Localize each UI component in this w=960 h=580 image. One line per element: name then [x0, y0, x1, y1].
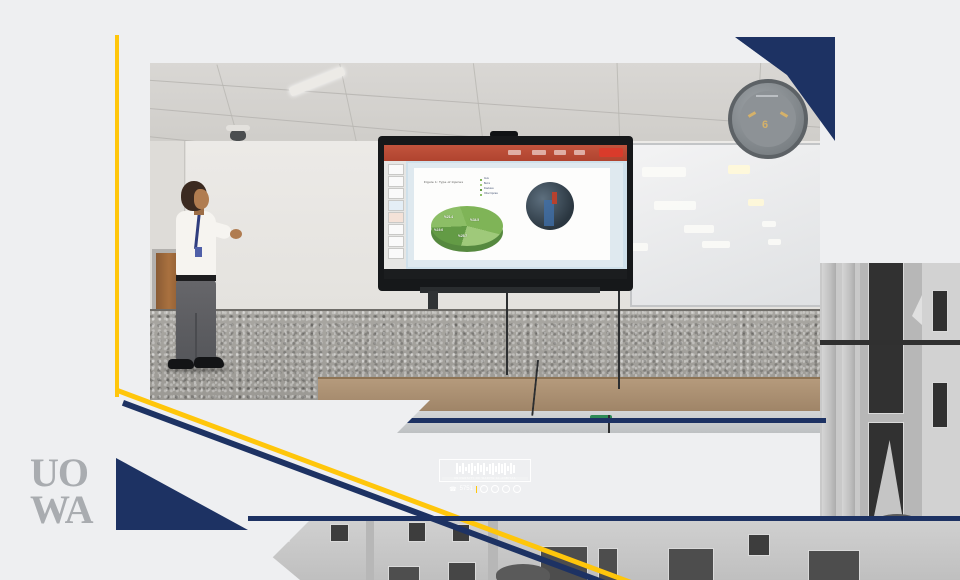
youtube-icon[interactable]: [513, 485, 521, 493]
pie-slice-label: %19.6: [434, 228, 443, 232]
slide-thumbnail[interactable]: [388, 188, 404, 199]
current-slide: Figure 1: Type of Injuries Cuts Burns Fr…: [414, 168, 610, 260]
slide-thumbnail[interactable]: [388, 224, 404, 235]
building-window: [408, 522, 426, 542]
phone-number: 5751: [460, 486, 473, 492]
presenter-shoe: [194, 357, 224, 368]
clock-numeral: 6: [762, 119, 768, 131]
display-cable-conduit: [618, 279, 620, 389]
navy-divider-lower: [248, 516, 960, 521]
facebook-icon[interactable]: [480, 485, 488, 493]
yellow-vertical-accent: [115, 35, 119, 397]
slide-thumbnail[interactable]: [388, 212, 404, 223]
uowa-logo-line2: WA: [30, 492, 102, 529]
building-shrub: [496, 564, 550, 580]
legend-swatch: [480, 179, 482, 181]
whiteboard: [630, 143, 820, 307]
presenter-shoe: [168, 359, 194, 369]
right-margin-panel: [820, 37, 960, 263]
slide-caption: Figure 1: Type of Injuries: [424, 180, 463, 184]
display-mount-foot: [428, 291, 438, 309]
whiteboard-glare: [684, 225, 714, 233]
slide-canvas: Figure 1: Type of Injuries Cuts Burns Fr…: [408, 163, 623, 267]
whiteboard-glare: [768, 239, 781, 245]
whiteboard-glare: [702, 241, 730, 248]
legend-swatch: [480, 189, 482, 191]
legend-label: Burns: [484, 183, 490, 185]
building-window: [668, 548, 714, 580]
phone-icon: ☎: [449, 486, 456, 493]
building-window: [748, 534, 770, 556]
watermark-contact: ☎ 5751: [430, 485, 540, 493]
building-window: [932, 382, 948, 428]
whiteboard-glare: [728, 165, 750, 174]
pie-slice-label: %25.7: [458, 234, 467, 238]
presenter-id-badge: [195, 247, 202, 257]
presenter-belt: [176, 275, 216, 281]
clock-glass-glare: [756, 95, 778, 97]
lecture-hall-presentation-photo: 6: [138, 63, 820, 433]
top-margin-panel: [735, 0, 960, 38]
whiteboard-glare: [762, 221, 776, 227]
watermark-subtitle: UNIVERSITY OF WARITH AL-ANBIYAA: [442, 477, 528, 480]
legend-label: Fractures: [484, 188, 494, 190]
ribbon-menu-item[interactable]: [508, 150, 521, 155]
building-window: [808, 550, 860, 580]
building-window: [932, 290, 948, 332]
slide-thumbnail[interactable]: [388, 248, 404, 259]
whiteboard-glare: [748, 199, 764, 206]
presenter-face: [194, 189, 209, 209]
slide-thumbnail[interactable]: [388, 164, 404, 175]
legend-label: Cuts: [484, 178, 489, 180]
watermark-frame: UNIVERSITY OF WARITH AL-ANBIYAA: [439, 459, 531, 482]
building-window: [330, 524, 349, 542]
kufic-logo-icon: [442, 461, 528, 476]
wall-clock: 6: [728, 79, 808, 159]
ribbon-menu-item[interactable]: [554, 150, 566, 155]
share-badge[interactable]: [599, 148, 623, 157]
watermark-logo: UNIVERSITY OF WARITH AL-ANBIYAA ☎ 5751: [430, 459, 540, 505]
whiteboard-glare: [654, 201, 696, 210]
ribbon-menu-item[interactable]: [532, 150, 546, 155]
injury-inset-photo: [526, 182, 574, 230]
divider: [476, 486, 477, 493]
telegram-icon[interactable]: [502, 485, 510, 493]
pie-chart: %34.5 %25.7 %19.6 %21.4: [428, 200, 506, 256]
building-window: [448, 562, 476, 580]
building-window: [868, 262, 904, 414]
inset-photo-detail: [552, 192, 557, 204]
presenter-hand: [230, 229, 242, 239]
whiteboard-glare: [642, 167, 686, 177]
pie-slice-label: %21.4: [444, 215, 453, 219]
poster-canvas: 6: [0, 0, 960, 580]
powerpoint-ribbon[interactable]: [384, 145, 627, 161]
building-entrance: [388, 566, 420, 580]
display-bezel-bottom: [384, 269, 627, 279]
navy-divider-line: [820, 340, 960, 345]
slide-thumbnail-panel[interactable]: [384, 161, 406, 269]
slide-thumbnail[interactable]: [388, 200, 404, 211]
building-pilaster: [366, 520, 374, 580]
display-mount-bar: [420, 287, 600, 293]
legend-swatch: [480, 194, 482, 196]
pie-chart-surface: [431, 206, 503, 246]
legend-swatch: [480, 184, 482, 186]
instagram-icon[interactable]: [491, 485, 499, 493]
display-screen: Figure 1: Type of Injuries Cuts Burns Fr…: [384, 145, 627, 277]
slide-thumbnail[interactable]: [388, 176, 404, 187]
pie-slice-label: %34.5: [470, 218, 479, 222]
ribbon-menu-item[interactable]: [574, 150, 585, 155]
uowa-logo: UO WA: [30, 455, 102, 531]
legend-label: Other Injuries: [484, 193, 498, 195]
whiteboard-glare: [632, 243, 648, 251]
cctv-camera-mount: [226, 125, 250, 131]
slide-thumbnail[interactable]: [388, 236, 404, 247]
